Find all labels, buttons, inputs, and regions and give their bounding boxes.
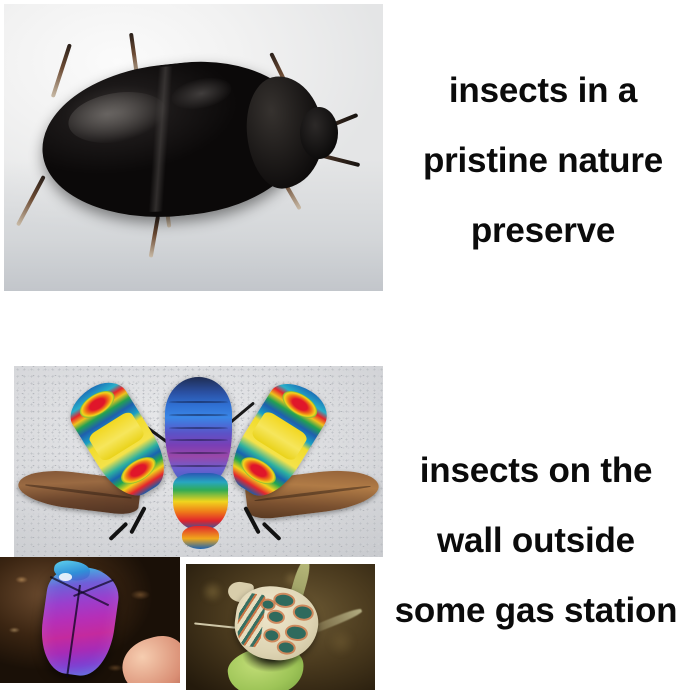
abdomen-segment (169, 414, 227, 416)
elytron-eyespot (116, 452, 160, 490)
scutellum-spot (269, 610, 284, 622)
caption-line: insects on the (372, 436, 700, 506)
black-beetle-photo (4, 4, 383, 291)
scutellum-spot (287, 625, 307, 640)
caption-line: insects in a (386, 56, 700, 126)
scutellum-wave-pattern (235, 592, 267, 648)
beetle-head (300, 107, 338, 159)
purple-beetle-photo (0, 557, 180, 683)
jewel-beetle-thorax (173, 473, 228, 530)
abdomen-segment (169, 427, 227, 429)
caption-line: pristine nature (386, 126, 700, 196)
scutellum-spot (279, 641, 295, 653)
elytron-yellow-band (87, 410, 146, 463)
scutellum-spot (274, 594, 294, 607)
scutellum-spot (262, 599, 274, 608)
picasso-bug-photo (186, 564, 375, 690)
abdomen-segment (169, 452, 227, 454)
meme-canvas: insects in a pristine nature preserve in… (0, 0, 700, 700)
abdomen-segment (169, 465, 227, 467)
caption-line: preserve (386, 196, 700, 266)
jewel-beetle-abdomen (165, 377, 231, 484)
beetle-leg (51, 44, 72, 98)
bottom-caption: insects on the wall outside some gas sta… (372, 436, 700, 646)
abdomen-segment (169, 401, 227, 403)
caption-line: some gas station (372, 576, 700, 646)
elytron-eyespot (237, 452, 281, 490)
scutellum-spot (294, 605, 312, 620)
caption-line: wall outside (372, 506, 700, 576)
purple-beetle-highlight (59, 573, 72, 581)
scutellum-spot (264, 629, 279, 641)
abdomen-segment (169, 439, 227, 441)
rainbow-jewel-beetle-photo (14, 366, 383, 557)
top-caption: insects in a pristine nature preserve (386, 56, 700, 266)
elytron-yellow-band (251, 410, 310, 463)
